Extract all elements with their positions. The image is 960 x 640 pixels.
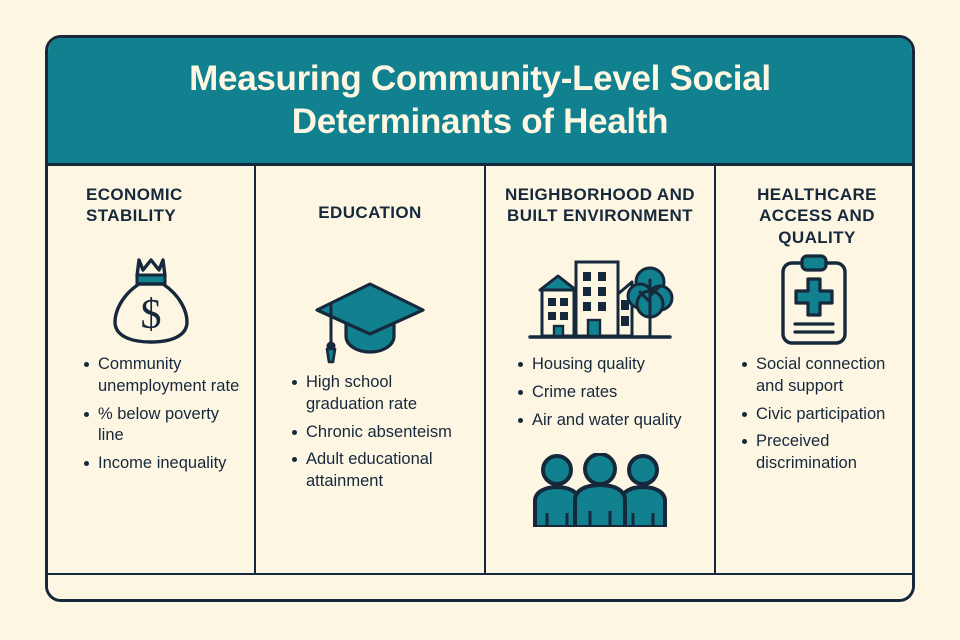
footer-strip xyxy=(48,573,912,599)
money-bag-icon: $ xyxy=(109,254,193,351)
svg-text:$: $ xyxy=(141,292,162,338)
header-band: Measuring Community-Level Social Determi… xyxy=(48,38,912,166)
infographic-frame: Measuring Community-Level Social Determi… xyxy=(45,35,915,602)
list-item: Income inequality xyxy=(84,453,240,475)
list-item: Crime rates xyxy=(518,382,700,404)
buildings-and-tree-icon xyxy=(526,252,674,353)
bullet-list-healthcare: Social connection and support Civic part… xyxy=(726,354,902,481)
column-heading-economic-stability: ECONOMIC STABILITY xyxy=(58,184,244,250)
list-item: High school graduation rate xyxy=(292,372,470,416)
list-item: Community unemployment rate xyxy=(84,354,240,398)
column-healthcare-access-quality: HEALTHCARE ACCESS AND QUALITY Social con… xyxy=(714,166,912,575)
column-heading-education: EDUCATION xyxy=(318,184,421,268)
column-heading-healthcare: HEALTHCARE ACCESS AND QUALITY xyxy=(726,184,902,250)
column-neighborhood-built-environment: NEIGHBORHOOD AND BUILT ENVIRONMENT xyxy=(484,166,714,575)
list-item: % below poverty line xyxy=(84,404,240,448)
icon-slot-neighborhood xyxy=(526,250,674,354)
medical-clipboard-icon xyxy=(775,253,853,352)
list-item: Social connection and support xyxy=(742,354,902,398)
bullet-list-education: High school graduation rate Chronic abse… xyxy=(266,372,474,499)
list-item: Adult educational attainment xyxy=(292,449,470,493)
three-people-icon xyxy=(525,453,675,532)
infographic-canvas: Measuring Community-Level Social Determi… xyxy=(0,0,960,640)
list-item: Civic participation xyxy=(742,404,902,426)
list-item: Chronic absenteism xyxy=(292,422,470,444)
icon-slot-economic-stability: $ xyxy=(58,250,244,354)
page-title: Measuring Community-Level Social Determi… xyxy=(72,58,888,143)
bottom-icon-slot-neighborhood xyxy=(496,453,704,532)
graduation-cap-icon xyxy=(311,272,429,369)
list-item: Housing quality xyxy=(518,354,700,376)
columns-container: ECONOMIC STABILITY $ Community unemploym… xyxy=(48,166,912,575)
bullet-list-neighborhood: Housing quality Crime rates Air and wate… xyxy=(496,354,704,437)
list-item: Preceived discrimination xyxy=(742,431,902,475)
column-economic-stability: ECONOMIC STABILITY $ Community unemploym… xyxy=(48,166,254,575)
icon-slot-education xyxy=(311,268,429,372)
column-education: EDUCATION High school graduation rate xyxy=(254,166,484,575)
icon-slot-healthcare xyxy=(775,250,853,354)
column-heading-neighborhood: NEIGHBORHOOD AND BUILT ENVIRONMENT xyxy=(496,184,704,250)
list-item: Air and water quality xyxy=(518,410,700,432)
bullet-list-economic-stability: Community unemployment rate % below pove… xyxy=(58,354,244,481)
